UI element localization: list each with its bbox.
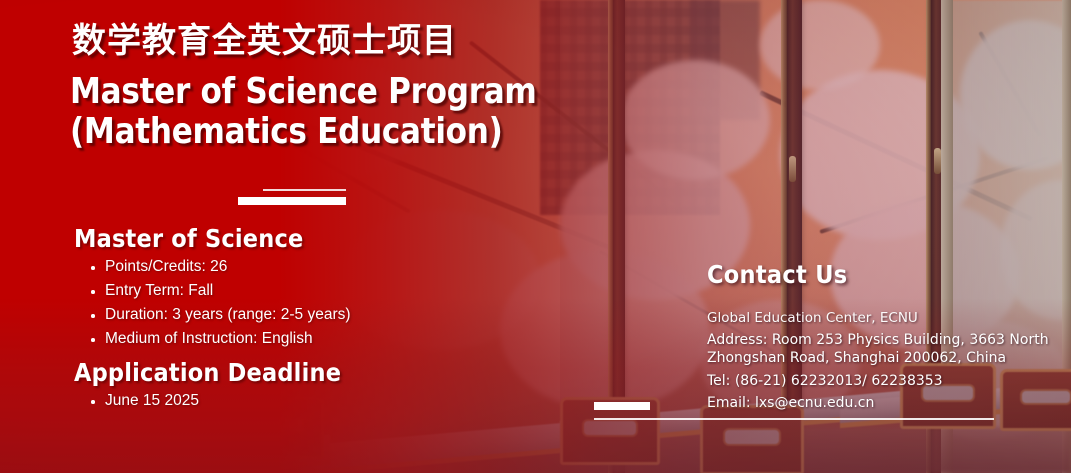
section-heading-master-of-science: Master of Science — [74, 226, 303, 251]
section-heading-application-deadline: Application Deadline — [74, 360, 341, 385]
contact-email: Email: lxs@ecnu.edu.cn — [707, 395, 1057, 412]
title-english: Master of Science Program (Mathematics E… — [70, 72, 537, 152]
list-item: Duration: 3 years (range: 2-5 years) — [88, 303, 351, 327]
title-divider-thick — [238, 197, 346, 205]
list-item: Medium of Instruction: English — [88, 327, 351, 351]
deadline-list: June 15 2025 — [88, 389, 199, 413]
contact-details: Global Education Center, ECNU Address: R… — [707, 310, 1057, 417]
title-english-line2: (Mathematics Education) — [70, 112, 537, 152]
list-item: June 15 2025 — [88, 389, 199, 413]
contact-address-line1: Address: Room 253 Physics Building, 3663… — [707, 332, 1057, 349]
list-item: Points/Credits: 26 — [88, 255, 351, 279]
contact-address-line2: Zhongshan Road, Shanghai 200062, China — [707, 350, 1057, 367]
contact-organization: Global Education Center, ECNU — [707, 310, 1057, 326]
title-divider-thin — [263, 189, 346, 191]
footer-divider-thick — [594, 402, 650, 410]
program-promo-banner: 数学教育全英文硕士项目 Master of Science Program (M… — [0, 0, 1071, 473]
section-heading-contact-us: Contact Us — [707, 262, 847, 287]
title-chinese: 数学教育全英文硕士项目 — [72, 24, 457, 58]
program-details-list: Points/Credits: 26 Entry Term: Fall Dura… — [88, 255, 351, 351]
contact-telephone: Tel: (86-21) 62232013/ 62238353 — [707, 373, 1057, 390]
title-english-line1: Master of Science Program — [70, 71, 537, 112]
list-item: Entry Term: Fall — [88, 279, 351, 303]
footer-divider-thin — [594, 418, 994, 420]
banner-content: 数学教育全英文硕士项目 Master of Science Program (M… — [0, 0, 1071, 473]
